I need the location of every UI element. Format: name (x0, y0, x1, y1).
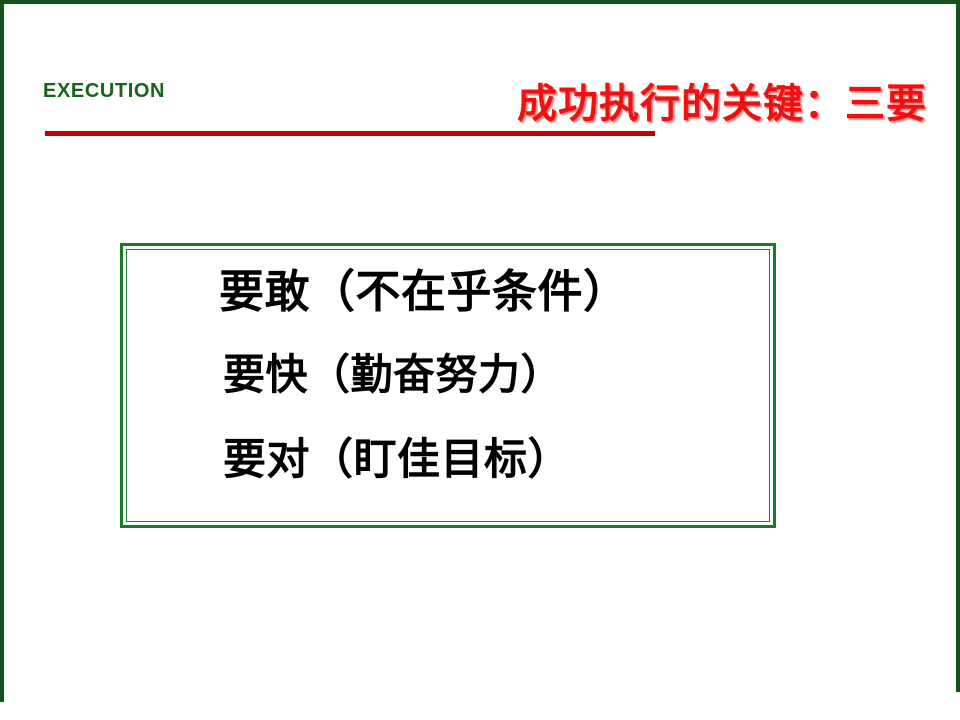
bullet-line-1: 要敢（不在乎条件） (219, 269, 629, 314)
slide-title: 成功执行的关键：三要 (517, 71, 927, 129)
bullet-line-2: 要快（勤奋努力） (223, 354, 563, 396)
presentation-slide: EXECUTION 成功执行的关键：三要 要敢（不在乎条件） 要快（勤奋努力） … (0, 0, 960, 720)
title-underline-rule (45, 131, 655, 136)
slide-eyebrow-label: EXECUTION (43, 80, 165, 103)
bullet-line-3: 要对（盯佳目标） (223, 439, 571, 482)
content-box-inner-border: 要敢（不在乎条件） 要快（勤奋努力） 要对（盯佳目标） (126, 249, 770, 522)
bullet-list: 要敢（不在乎条件） 要快（勤奋努力） 要对（盯佳目标） (127, 250, 769, 521)
slide-frame-top-border (0, 0, 960, 4)
content-box: 要敢（不在乎条件） 要快（勤奋努力） 要对（盯佳目标） (120, 243, 776, 528)
slide-frame-left-border (0, 0, 4, 702)
slide-frame-right-border (956, 0, 960, 692)
